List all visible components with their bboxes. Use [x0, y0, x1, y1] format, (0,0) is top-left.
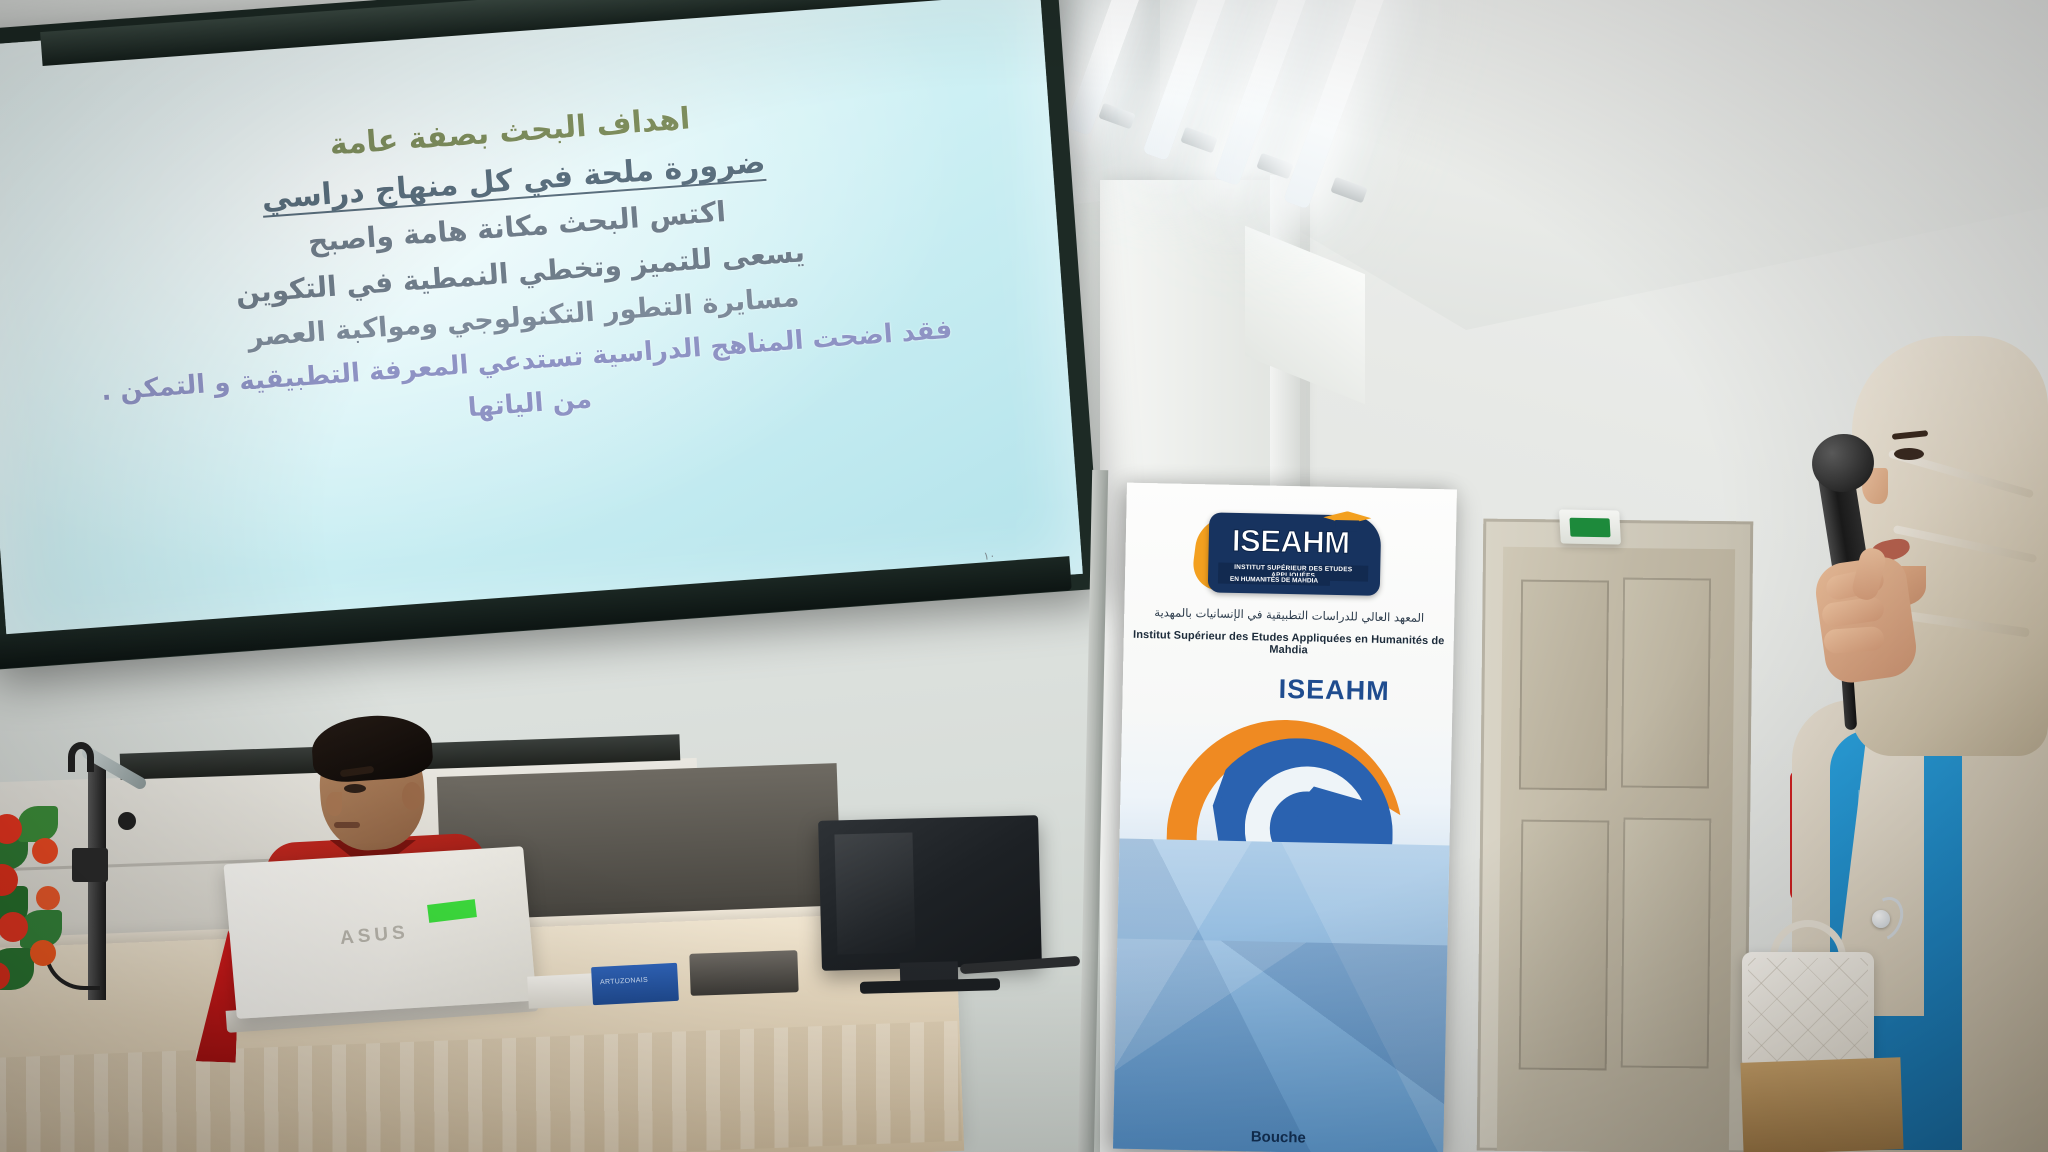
desk-white-device — [527, 973, 595, 1008]
photo-scene: اهداف البحث بصفة عامة ضرورة ملحة في كل م… — [0, 0, 2048, 1152]
emergency-exit-sign-icon — [1559, 509, 1621, 544]
emblem-label: ISEAHM — [1278, 674, 1390, 707]
door-panel-bottom — [1519, 820, 1610, 1071]
seated-man-ear — [402, 782, 422, 810]
seated-man-nose — [326, 792, 342, 816]
desk-dark-gadget — [689, 950, 798, 996]
door-panel-top — [1519, 580, 1609, 791]
badge-wordmark: ISEAHM — [1192, 522, 1389, 562]
door-panel-top-right — [1621, 578, 1711, 789]
desktop-monitor[interactable] — [818, 815, 1042, 971]
banner-french-name: Institut Supérieur des Etudes Appliquées… — [1123, 629, 1453, 660]
banner-polygon-art-2 — [1113, 939, 1447, 1152]
speaker-brooch-pearl — [1872, 910, 1890, 928]
seated-man-eye — [344, 784, 366, 793]
wooden-chair — [1740, 1057, 1903, 1152]
speaker-finger-3 — [1823, 626, 1885, 654]
exit-sign-green-panel — [1569, 517, 1610, 537]
door-panel-bottom-right — [1621, 818, 1712, 1069]
slide-content: اهداف البحث بصفة عامة ضرورة ملحة في كل م… — [0, 0, 1083, 653]
monitor-screen-reflection — [834, 832, 915, 954]
seated-man-mouth — [334, 822, 360, 828]
mic-stand-clip-icon — [68, 742, 94, 772]
speaker-eye — [1894, 448, 1924, 460]
iseahm-badge-logo: ISEAHM INSTITUT SUPÉRIEUR DES ETUDES APP… — [1192, 506, 1390, 604]
banner-arabic-name: المعهد العالي للدراسات التطبيقية في الإن… — [1124, 605, 1454, 626]
projection-screen[interactable]: اهداف البحث بصفة عامة ضرورة ملحة في كل م… — [0, 0, 1083, 653]
roll-up-banner: ISEAHM INSTITUT SUPÉRIEUR DES ETUDES APP… — [1113, 483, 1457, 1152]
flower-arrangement — [0, 790, 130, 1020]
handbag-quilt-pattern — [1748, 958, 1868, 1064]
